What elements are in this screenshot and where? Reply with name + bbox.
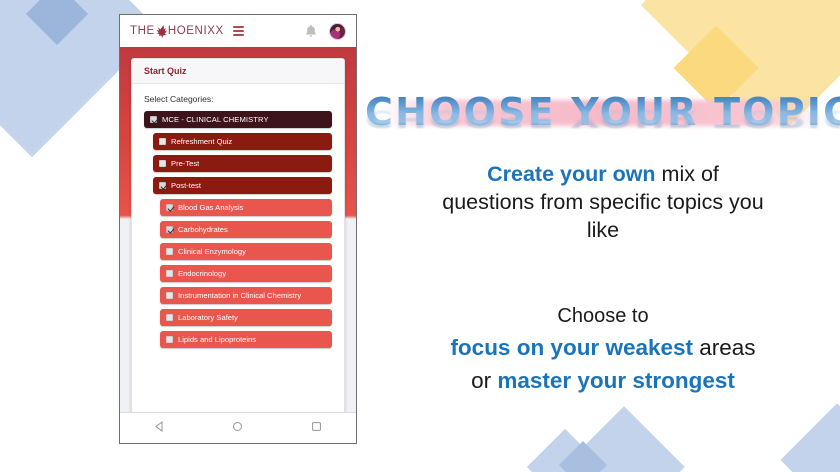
category-item[interactable]: Pre-Test	[153, 155, 332, 172]
category-item[interactable]: Post-test	[153, 177, 332, 194]
checkbox-unchecked-icon[interactable]	[166, 248, 173, 255]
phone-mockup: THE HOENIXX	[119, 14, 357, 444]
android-nav-bar	[120, 412, 356, 443]
category-label: Pre-Test	[171, 159, 199, 168]
right-content-panel: CHOOSE YOUR TOPICS CHOOSE YOUR TOPICS Cr…	[365, 0, 840, 472]
category-label: Carbohydrates	[178, 225, 228, 234]
app-header: THE HOENIXX	[120, 15, 356, 47]
checkbox-unchecked-icon[interactable]	[166, 314, 173, 321]
brand-name-suffix: HOENIXX	[168, 25, 224, 37]
category-item[interactable]: Laboratory Safety	[160, 309, 332, 326]
para1-line2: questions from specific topics you	[442, 190, 763, 214]
back-triangle-icon[interactable]	[154, 419, 165, 437]
user-avatar[interactable]	[329, 23, 346, 40]
category-label: Instrumentation in Clinical Chemistry	[178, 291, 301, 300]
body-paragraph-one: Create your own mix of questions from sp…	[379, 160, 827, 244]
card-header: Start Quiz	[132, 59, 344, 84]
para2-line3-prefix: or	[471, 368, 497, 393]
para2-line3-bold: master your strongest	[497, 368, 735, 393]
category-label: Post-test	[171, 181, 201, 190]
home-circle-icon[interactable]	[232, 419, 243, 437]
checkbox-checked-icon[interactable]	[150, 116, 157, 123]
app-brand-logo: THE HOENIXX	[130, 23, 224, 39]
checkbox-unchecked-icon[interactable]	[166, 336, 173, 343]
card-body: Select Categories: MCE - CLINICAL CHEMIS…	[132, 84, 344, 348]
phoenix-icon	[155, 24, 169, 40]
checkbox-unchecked-icon[interactable]	[159, 138, 166, 145]
checkbox-checked-icon[interactable]	[166, 204, 173, 211]
bell-icon[interactable]	[305, 24, 317, 38]
card-title: Start Quiz	[144, 66, 187, 76]
checkbox-unchecked-icon[interactable]	[159, 160, 166, 167]
category-label: Lipids and Lipoproteins	[178, 335, 256, 344]
category-label: Clinical Enzymology	[178, 247, 246, 256]
checkbox-checked-icon[interactable]	[159, 182, 166, 189]
category-item[interactable]: Instrumentation in Clinical Chemistry	[160, 287, 332, 304]
para2-line1: Choose to	[557, 305, 648, 327]
category-label: Blood Gas Analysis	[178, 203, 243, 212]
category-item[interactable]: Clinical Enzymology	[160, 243, 332, 260]
headline-title-block: CHOOSE YOUR TOPICS CHOOSE YOUR TOPICS	[365, 84, 840, 156]
category-label: Refreshment Quiz	[171, 137, 232, 146]
category-item[interactable]: Endocrinology	[160, 265, 332, 282]
category-list: MCE - CLINICAL CHEMISTRYRefreshment Quiz…	[144, 111, 332, 348]
category-item[interactable]: Lipids and Lipoproteins	[160, 331, 332, 348]
start-quiz-card: Start Quiz Select Categories: MCE - CLIN…	[131, 58, 345, 413]
checkbox-unchecked-icon[interactable]	[166, 270, 173, 277]
para1-line3: like	[587, 218, 619, 242]
category-label: Laboratory Safety	[178, 313, 238, 322]
category-label: MCE - CLINICAL CHEMISTRY	[162, 115, 269, 124]
recents-square-icon[interactable]	[311, 419, 322, 437]
category-label: Endocrinology	[178, 269, 226, 278]
select-categories-label: Select Categories:	[144, 94, 332, 104]
para2-line2-bold: focus on your weakest	[450, 335, 693, 360]
para2-line2-rest: areas	[693, 335, 756, 360]
checkbox-unchecked-icon[interactable]	[166, 292, 173, 299]
para1-rest: mix of	[656, 162, 719, 186]
category-item[interactable]: MCE - CLINICAL CHEMISTRY	[144, 111, 332, 128]
category-item[interactable]: Blood Gas Analysis	[160, 199, 332, 216]
decor-diamond-blue-top-left-overlap	[26, 0, 88, 45]
page-title-reflection: CHOOSE YOUR TOPICS	[365, 105, 840, 132]
brand-name-prefix: THE	[130, 25, 155, 37]
category-item[interactable]: Carbohydrates	[160, 221, 332, 238]
slide-canvas: THE HOENIXX	[0, 0, 840, 472]
para1-bold-lead: Create your own	[487, 162, 655, 186]
app-content-background: Start Quiz Select Categories: MCE - CLIN…	[120, 47, 356, 413]
body-paragraph-two: Choose to focus on your weakest areas or…	[379, 300, 827, 398]
category-item[interactable]: Refreshment Quiz	[153, 133, 332, 150]
checkbox-checked-icon[interactable]	[166, 226, 173, 233]
hamburger-icon[interactable]	[233, 26, 244, 36]
